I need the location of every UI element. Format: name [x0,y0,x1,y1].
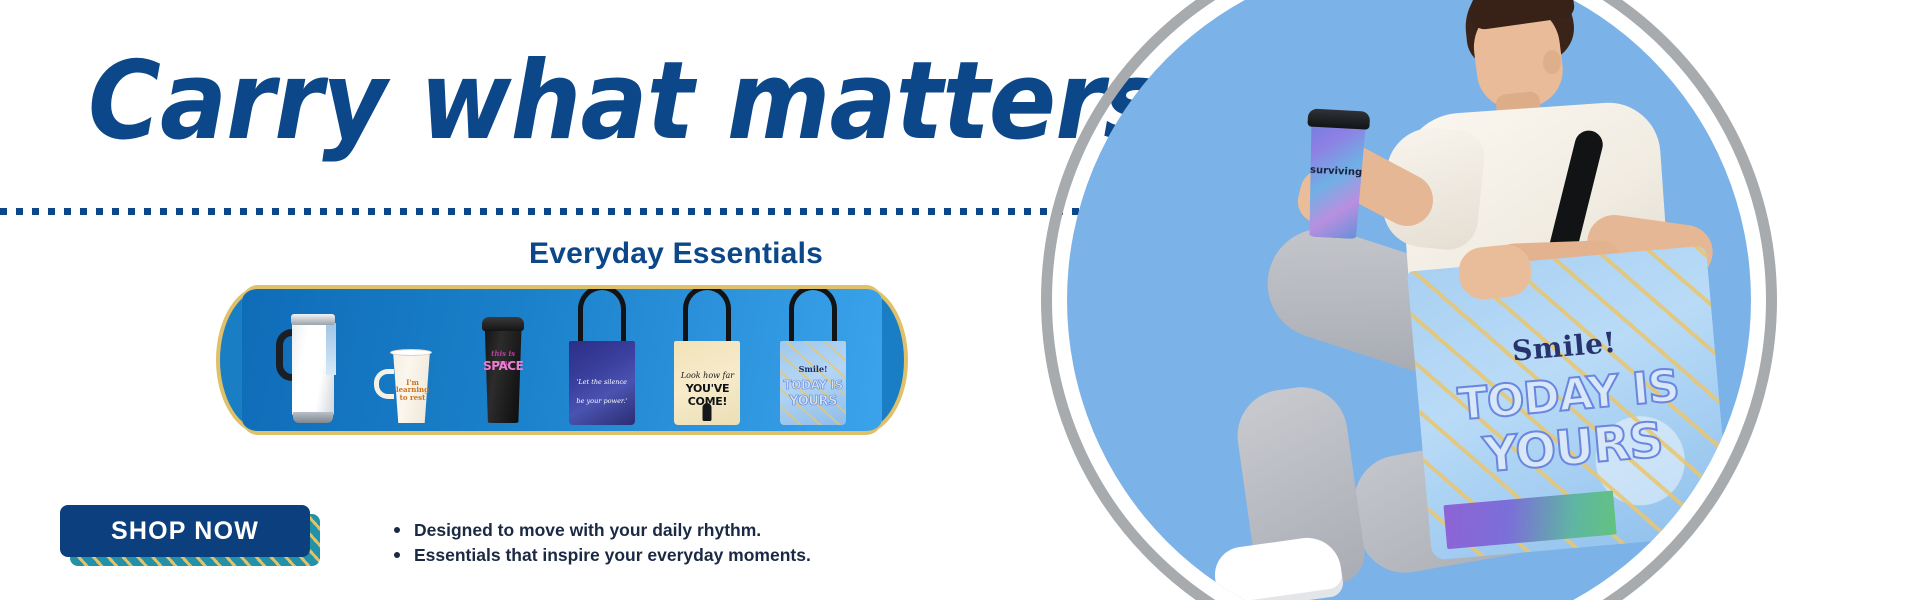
mug-print-area [326,323,336,375]
tote-body: Smile! TODAY IS YOURS [780,341,846,425]
hero-tote-bag[interactable]: Smile! TODAY IS YOURS [1407,245,1731,560]
mug-handle [374,369,394,399]
shop-now-button[interactable]: SHOP NOW [60,505,310,557]
product-cream-tote[interactable]: Look how far YOU'VE COME! [674,285,740,425]
promo-banner: Carry what matters. Everyday Essentials [0,0,1920,600]
hero-circle-disc: surviving Smile! TODAY IS YOURS [1067,0,1751,600]
tote-body: Smile! TODAY IS YOURS [1407,245,1731,560]
mug-base [293,412,333,423]
product-black-tumbler[interactable]: this is my SPACE [477,313,529,425]
tumbler-lid [1307,108,1370,129]
feature-bullet-list: Designed to move with your daily rhythm.… [392,518,811,568]
tote-print-line-1: TODAY IS [783,379,843,393]
product-showcase: I'm learning to rest this is my SPACE [216,285,908,435]
list-item: Designed to move with your daily rhythm. [392,518,811,543]
tote-strap [789,285,837,349]
page-title: Carry what matters. [88,48,1198,156]
product-lightblue-tote[interactable]: Smile! TODAY IS YOURS [780,285,846,425]
mug-lid [291,314,335,325]
mug-print-text: I'm learning to rest [393,379,431,401]
print-line-3: to rest [400,393,426,402]
print-line-2: be your power.' [572,398,632,405]
tote-strap [578,285,626,349]
tote-strap [683,285,731,349]
product-latte-mug[interactable]: I'm learning to rest [375,345,437,425]
showcase-panel: I'm learning to rest this is my SPACE [242,285,882,435]
tumbler-body [1304,121,1368,240]
section-subheading: Everyday Essentials [300,237,1052,271]
product-white-travel-mug[interactable] [278,309,336,425]
tote-body: 'Let the silence be your power.' [569,341,635,425]
tumbler-body [483,327,523,423]
model-shoe-front [1211,534,1344,600]
hero-image: surviving Smile! TODAY IS YOURS [1041,0,1777,600]
tumbler-lid [482,317,524,331]
list-item: Essentials that inspire your everyday mo… [392,543,811,568]
product-list: I'm learning to rest this is my SPACE [242,289,882,431]
tote-figure-silhouette [703,403,712,421]
model-ear [1543,50,1561,74]
tote-color-swatch [1443,491,1616,550]
tumbler-print-main: SPACE [483,359,523,373]
dotted-divider [0,208,1196,215]
tote-print-script: Look how far [677,371,737,380]
hero-travel-tumbler[interactable]: surviving [1300,106,1373,239]
product-navy-tote[interactable]: 'Let the silence be your power.' [569,285,635,425]
tote-print-text: 'Let the silence be your power.' [572,379,632,406]
tote-body: Look how far YOU'VE COME! [674,341,740,425]
tote-print-line-2: YOURS [783,395,843,410]
shop-now-container: SHOP NOW [60,505,320,567]
tote-print-script: Smile! [783,365,843,374]
print-line-1: 'Let the silence [577,378,627,386]
